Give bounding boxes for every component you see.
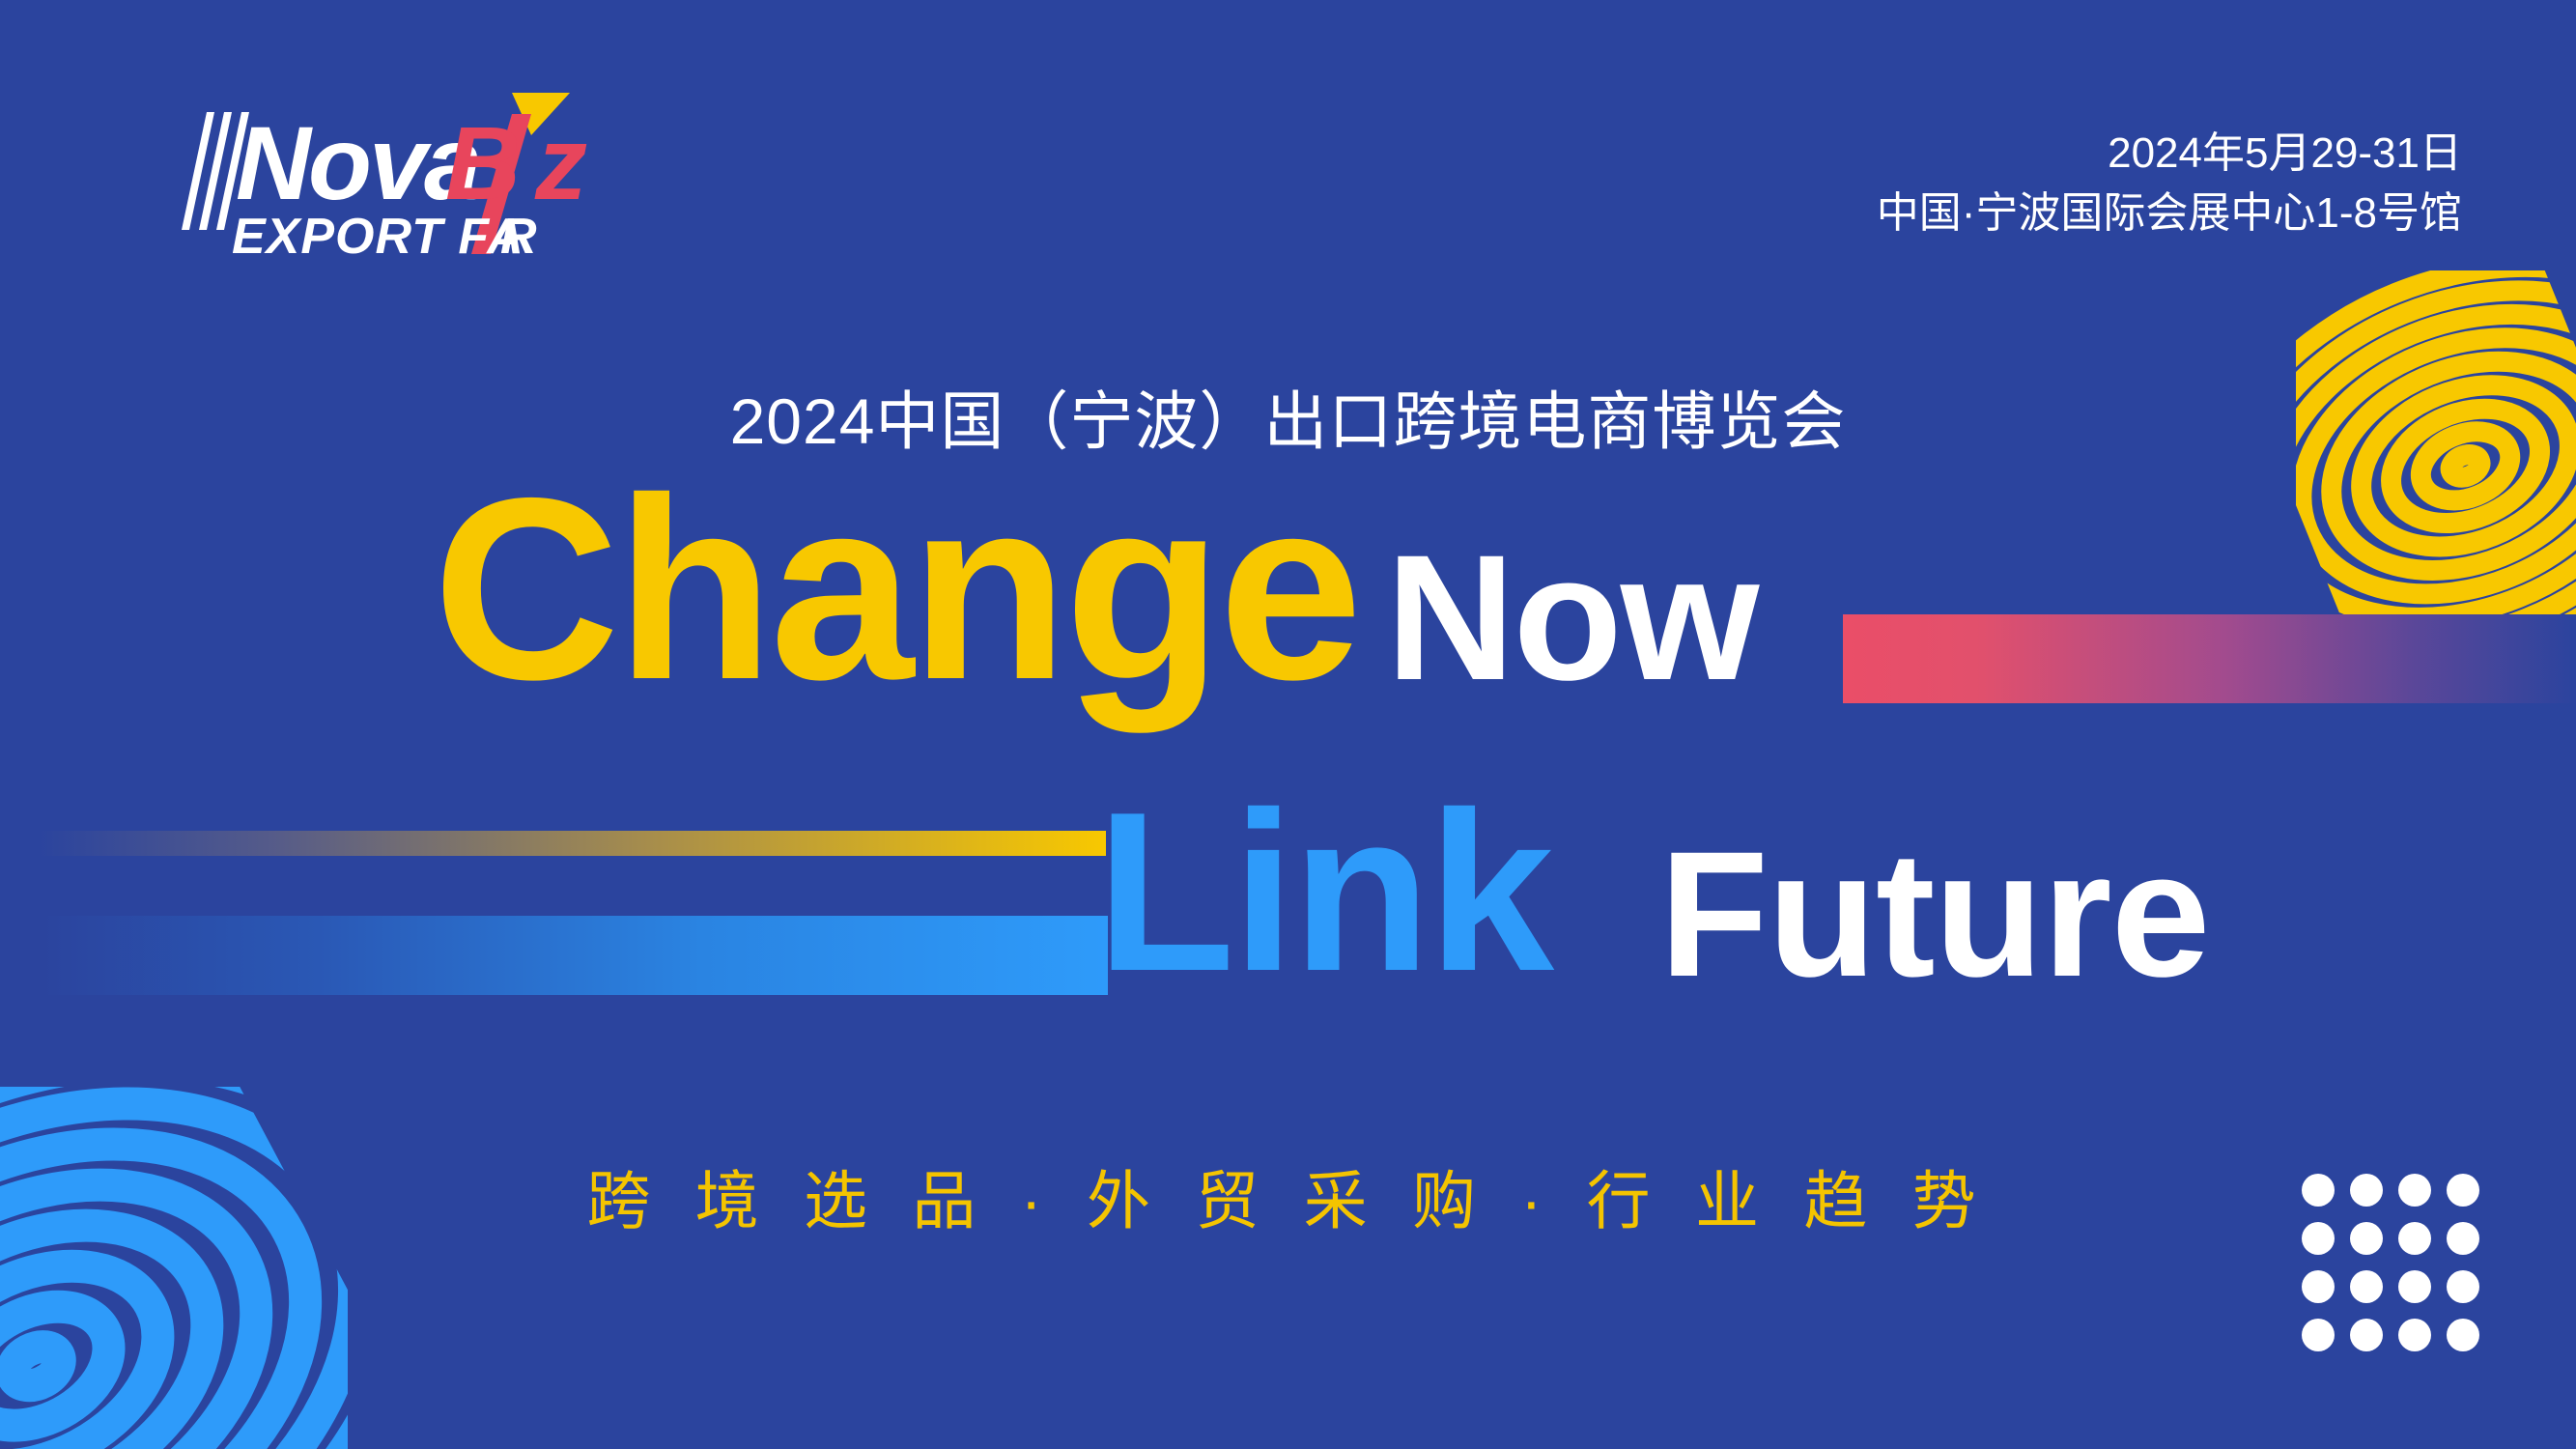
- yellow-gradient-bar: [39, 831, 1106, 856]
- hero-word-link: Link: [1096, 778, 1551, 1005]
- event-date: 2024年5月29-31日: [1877, 124, 2462, 184]
- blue-gradient-bar: [41, 916, 1108, 995]
- dot: [2398, 1174, 2431, 1207]
- dot: [2302, 1270, 2335, 1303]
- event-venue: 中国·宁波国际会展中心1-8号馆: [1877, 184, 2462, 243]
- dot: [2447, 1270, 2479, 1303]
- dot: [2447, 1319, 2479, 1351]
- svg-text:Nova: Nova: [236, 104, 479, 221]
- dot: [2398, 1270, 2431, 1303]
- hero-word-change: Change: [433, 459, 1359, 718]
- hero-line-1: Change Now: [0, 483, 2576, 744]
- pink-gradient-bar: [1843, 614, 2576, 703]
- dot: [2398, 1222, 2431, 1255]
- dot: [2302, 1174, 2335, 1207]
- svg-text:R: R: [500, 209, 538, 264]
- dot-grid-decoration: [2302, 1174, 2495, 1367]
- dot: [2350, 1174, 2383, 1207]
- svg-text:B: B: [445, 104, 519, 221]
- globe-blue-icon: [0, 1087, 348, 1449]
- dot: [2350, 1319, 2383, 1351]
- novabiz-logo: Nova B z EXPORT FA R: [172, 85, 626, 264]
- dot: [2302, 1319, 2335, 1351]
- bottom-tagline: 跨 境 选 品 · 外 贸 采 购 · 行 业 趋 势: [0, 1150, 2576, 1242]
- hero-word-future: Future: [1659, 826, 2210, 1005]
- dot: [2302, 1222, 2335, 1255]
- dot: [2350, 1270, 2383, 1303]
- hero-word-now: Now: [1386, 529, 1758, 708]
- dot: [2398, 1319, 2431, 1351]
- dot: [2350, 1222, 2383, 1255]
- svg-text:EXPORT FA: EXPORT FA: [232, 209, 524, 264]
- dot: [2447, 1174, 2479, 1207]
- promo-banner: Nova B z EXPORT FA R 2024年5月29-31日 中国·宁波…: [0, 0, 2576, 1449]
- event-info: 2024年5月29-31日 中国·宁波国际会展中心1-8号馆: [1877, 124, 2462, 244]
- dot: [2447, 1222, 2479, 1255]
- svg-text:z: z: [534, 104, 587, 221]
